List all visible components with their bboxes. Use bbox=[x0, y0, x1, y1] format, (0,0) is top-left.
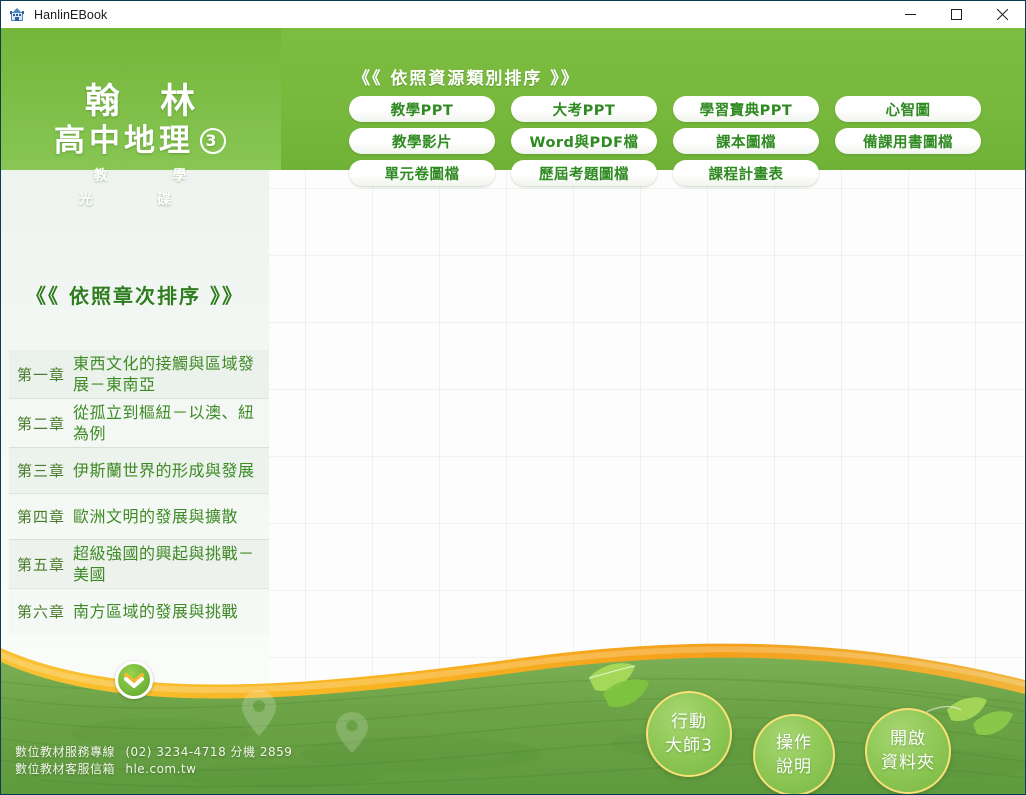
footer-email-line: 數位教材客服信箱 hle.com.tw bbox=[15, 761, 292, 778]
chapter-number: 第一章 bbox=[9, 364, 73, 385]
resource-category-heading: 《《 依照資源類別排序 》》 bbox=[353, 64, 997, 89]
footer-email-label: 數位教材客服信箱 bbox=[15, 762, 115, 776]
resource-cell-empty bbox=[835, 160, 997, 186]
footer-contact: 數位教材服務專線 (02) 3234-4718 分機 2859 數位教材客服信箱… bbox=[15, 744, 292, 778]
resource-cell: 單元卷圖檔 bbox=[349, 160, 511, 186]
app-body: 翰 林 高中地理 3 教 學 光 碟 《《 依照資源類別排序 》》 教學PPT … bbox=[1, 28, 1025, 794]
brand-logo: 翰 林 高中地理 3 教 學 光 碟 bbox=[35, 83, 245, 195]
footer-email-value[interactable]: hle.com.tw bbox=[125, 762, 196, 776]
resource-button-grid: 教學PPT 教學影片 單元卷圖檔 大考PPT Word與PDF檔 歷屆考題圖檔 bbox=[349, 96, 997, 186]
content-panel bbox=[269, 170, 1025, 794]
chapter-row[interactable]: 第四章 歐洲文明的發展與擴散 bbox=[9, 493, 269, 539]
resource-button-prep-book-images[interactable]: 備課用書圖檔 bbox=[835, 128, 981, 154]
chapter-list: 第一章 東西文化的接觸與區域發展－東南亞 第二章 從孤立到樞紐－以澳、紐為例 第… bbox=[9, 350, 269, 634]
action-button-mobile-master[interactable]: 行動 大師3 bbox=[646, 691, 732, 777]
app-icon bbox=[9, 7, 25, 23]
logo-volume-badge: 3 bbox=[200, 128, 226, 154]
resource-cell: 課本圖檔 bbox=[673, 128, 835, 154]
resource-cell: 教學PPT bbox=[349, 96, 511, 122]
action-label-line2: 資料夾 bbox=[881, 751, 935, 775]
footer-phone-line: 數位教材服務專線 (02) 3234-4718 分機 2859 bbox=[15, 744, 292, 761]
resource-button-course-plan[interactable]: 課程計畫表 bbox=[673, 160, 819, 186]
resource-category-panel: 《《 依照資源類別排序 》》 教學PPT 教學影片 單元卷圖檔 大考PPT Wo… bbox=[349, 64, 997, 186]
resource-cell: 歷屆考題圖檔 bbox=[511, 160, 673, 186]
window-controls bbox=[887, 1, 1025, 28]
resource-cell: 教學影片 bbox=[349, 128, 511, 154]
chapter-row[interactable]: 第一章 東西文化的接觸與區域發展－東南亞 bbox=[9, 350, 269, 398]
resource-cell: 心智圖 bbox=[835, 96, 997, 122]
action-button-open-folder[interactable]: 開啟 資料夾 bbox=[865, 708, 951, 794]
chapter-number: 第六章 bbox=[9, 601, 73, 622]
logo-series: 高中地理 bbox=[54, 121, 194, 161]
minimize-button[interactable] bbox=[887, 1, 933, 28]
action-label-line2: 說明 bbox=[776, 755, 812, 779]
chapter-sort-heading: 《《 依照章次排序 》》 bbox=[1, 280, 269, 309]
chapter-number: 第三章 bbox=[9, 460, 73, 481]
logo-brand: 翰 林 bbox=[35, 83, 245, 121]
resource-button-mind-map[interactable]: 心智圖 bbox=[835, 96, 981, 122]
chapter-number: 第二章 bbox=[9, 413, 73, 434]
chapter-row[interactable]: 第二章 從孤立到樞紐－以澳、紐為例 bbox=[9, 398, 269, 447]
footer-phone-value: (02) 3234-4718 分機 2859 bbox=[125, 745, 292, 759]
logo-series-row: 高中地理 3 bbox=[35, 121, 245, 161]
chapter-number: 第四章 bbox=[9, 506, 73, 527]
chevron-down-icon bbox=[124, 672, 144, 688]
resource-button-teaching-video[interactable]: 教學影片 bbox=[349, 128, 495, 154]
resource-cell: 學習寶典PPT bbox=[673, 96, 835, 122]
application-window: HanlinEBook bbox=[0, 0, 1026, 795]
resource-button-past-exam-images[interactable]: 歷屆考題圖檔 bbox=[511, 160, 657, 186]
action-label-line1: 行動 bbox=[665, 710, 713, 734]
resource-button-study-guide-ppt[interactable]: 學習寶典PPT bbox=[673, 96, 819, 122]
maximize-button[interactable] bbox=[933, 1, 979, 28]
logo-subtitle: 教 學 光 碟 bbox=[35, 164, 245, 212]
resource-cell: 課程計畫表 bbox=[673, 160, 835, 186]
action-button-label: 操作 說明 bbox=[776, 731, 812, 779]
chapter-row[interactable]: 第五章 超級強國的興起與挑戰－美國 bbox=[9, 539, 269, 588]
action-button-operation-manual[interactable]: 操作 說明 bbox=[753, 714, 835, 794]
window-title: HanlinEBook bbox=[34, 8, 107, 22]
chapter-title: 東西文化的接觸與區域發展－東南亞 bbox=[73, 353, 269, 395]
resource-cell: Word與PDF檔 bbox=[511, 128, 673, 154]
resource-button-exam-ppt[interactable]: 大考PPT bbox=[511, 96, 657, 122]
resource-button-unit-test-images[interactable]: 單元卷圖檔 bbox=[349, 160, 495, 186]
resource-button-teaching-ppt[interactable]: 教學PPT bbox=[349, 96, 495, 122]
chapter-sidebar: 《《 依照章次排序 》》 第一章 東西文化的接觸與區域發展－東南亞 第二章 從孤… bbox=[1, 170, 269, 794]
chapter-title: 超級強國的興起與挑戰－美國 bbox=[73, 543, 269, 585]
resource-cell: 大考PPT bbox=[511, 96, 673, 122]
action-button-label: 開啟 資料夾 bbox=[881, 727, 935, 775]
chapter-title: 從孤立到樞紐－以澳、紐為例 bbox=[73, 402, 269, 444]
action-label-line2: 大師3 bbox=[665, 734, 713, 758]
resource-button-word-pdf[interactable]: Word與PDF檔 bbox=[511, 128, 657, 154]
chapter-number: 第五章 bbox=[9, 554, 73, 575]
chapter-row[interactable]: 第三章 伊斯蘭世界的形成與發展 bbox=[9, 447, 269, 493]
action-label-line1: 操作 bbox=[776, 731, 812, 755]
action-button-label: 行動 大師3 bbox=[665, 710, 713, 758]
footer-phone-label: 數位教材服務專線 bbox=[15, 745, 115, 759]
chapter-row[interactable]: 第六章 南方區域的發展與挑戰 bbox=[9, 588, 269, 634]
resource-button-textbook-images[interactable]: 課本圖檔 bbox=[673, 128, 819, 154]
chapter-title: 南方區域的發展與挑戰 bbox=[73, 601, 244, 622]
scroll-down-button[interactable] bbox=[115, 661, 153, 699]
action-label-line1: 開啟 bbox=[881, 727, 935, 751]
title-bar: HanlinEBook bbox=[1, 1, 1025, 28]
chapter-title: 伊斯蘭世界的形成與發展 bbox=[73, 460, 261, 481]
chapter-title: 歐洲文明的發展與擴散 bbox=[73, 506, 244, 527]
resource-cell: 備課用書圖檔 bbox=[835, 128, 997, 154]
close-button[interactable] bbox=[979, 1, 1025, 28]
